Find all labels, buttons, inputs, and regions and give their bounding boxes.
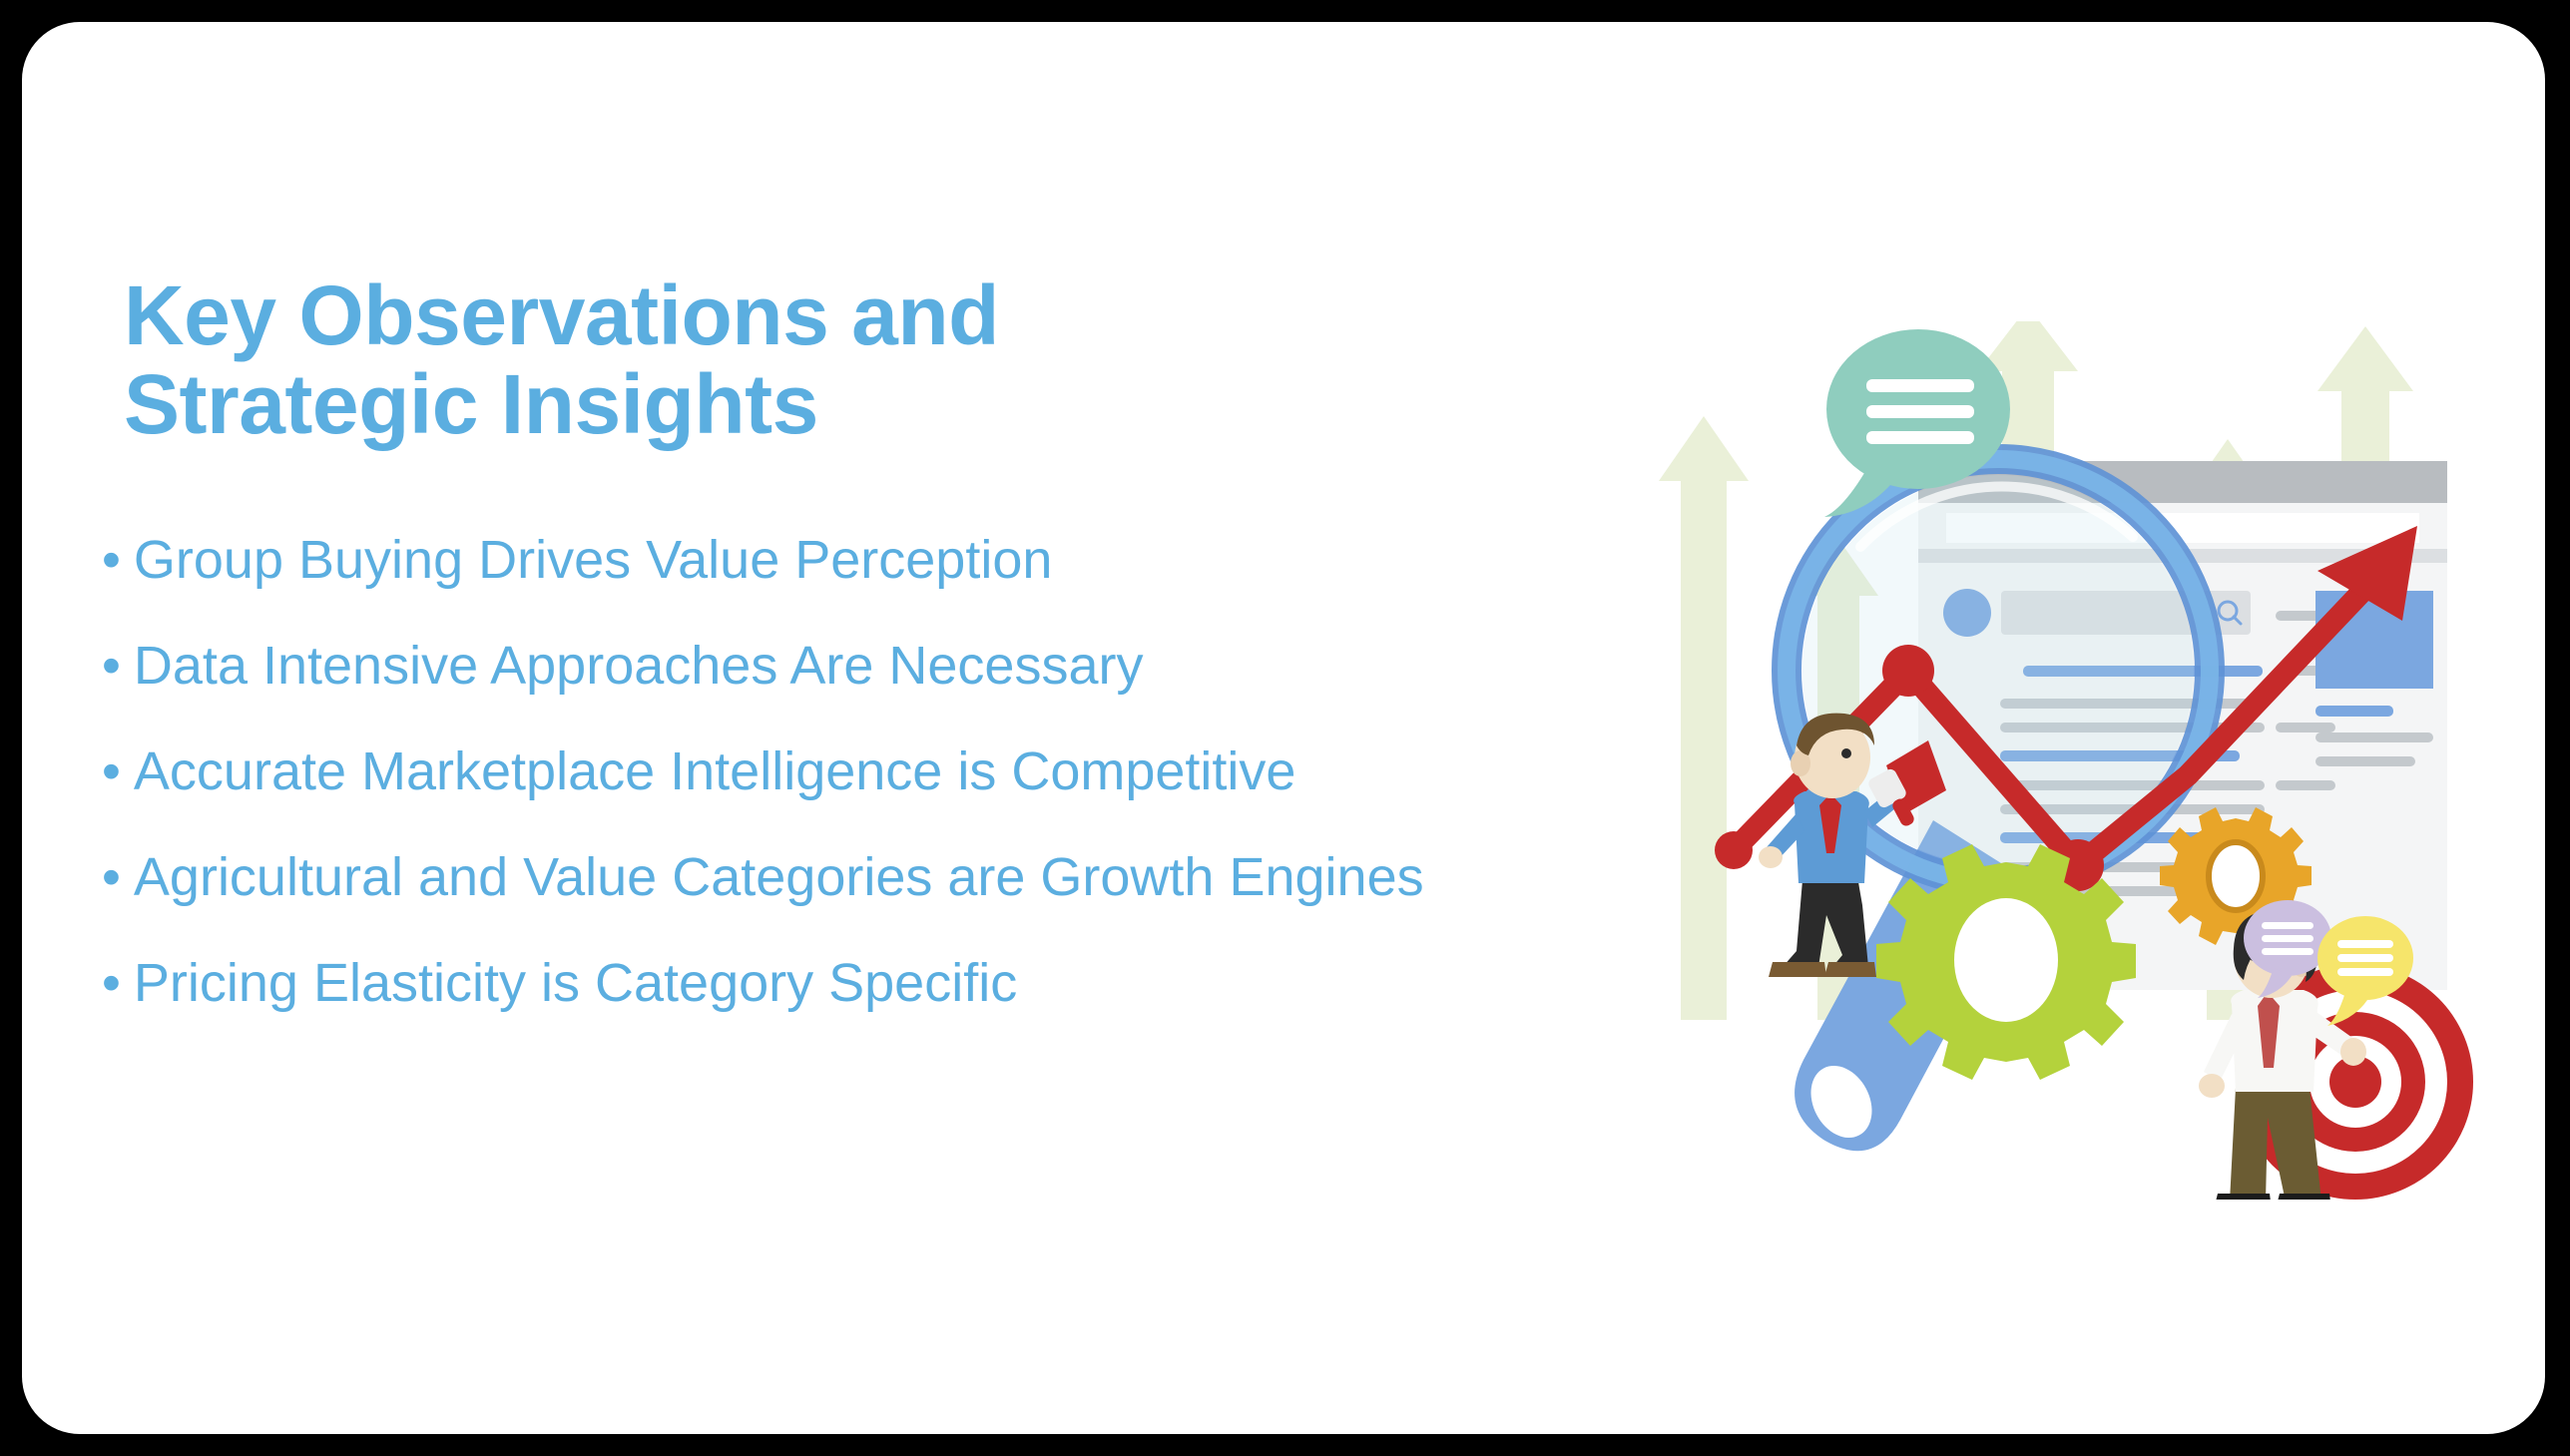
list-item: • Accurate Marketplace Intelligence is C… bbox=[102, 744, 1699, 798]
list-item: • Group Buying Drives Value Perception bbox=[102, 533, 1699, 587]
text-content-column: Key Observations and Strategic Insights … bbox=[102, 271, 1699, 1010]
chart-point bbox=[1882, 645, 1934, 697]
list-item-label: Agricultural and Value Categories are Gr… bbox=[134, 850, 1424, 904]
list-item-label: Group Buying Drives Value Perception bbox=[134, 533, 1052, 587]
bullet-point-icon: • bbox=[102, 850, 121, 904]
bullet-point-icon: • bbox=[102, 744, 121, 798]
bullet-point-icon: • bbox=[102, 956, 121, 1010]
market-research-illustration bbox=[1629, 321, 2507, 1200]
list-item: • Data Intensive Approaches Are Necessar… bbox=[102, 639, 1699, 693]
list-item-label: Accurate Marketplace Intelligence is Com… bbox=[134, 744, 1296, 798]
bullet-point-icon: • bbox=[102, 639, 121, 693]
bullet-point-icon: • bbox=[102, 533, 121, 587]
slide-card: Key Observations and Strategic Insights … bbox=[22, 22, 2545, 1434]
list-item: • Pricing Elasticity is Category Specifi… bbox=[102, 956, 1699, 1010]
chart-point bbox=[1715, 831, 1753, 869]
list-item: • Agricultural and Value Categories are … bbox=[102, 850, 1699, 904]
list-item-label: Data Intensive Approaches Are Necessary bbox=[134, 639, 1144, 693]
key-insights-list: • Group Buying Drives Value Perception •… bbox=[102, 533, 1699, 1010]
page-title: Key Observations and Strategic Insights bbox=[124, 271, 1699, 449]
list-item-label: Pricing Elasticity is Category Specific bbox=[134, 956, 1017, 1010]
